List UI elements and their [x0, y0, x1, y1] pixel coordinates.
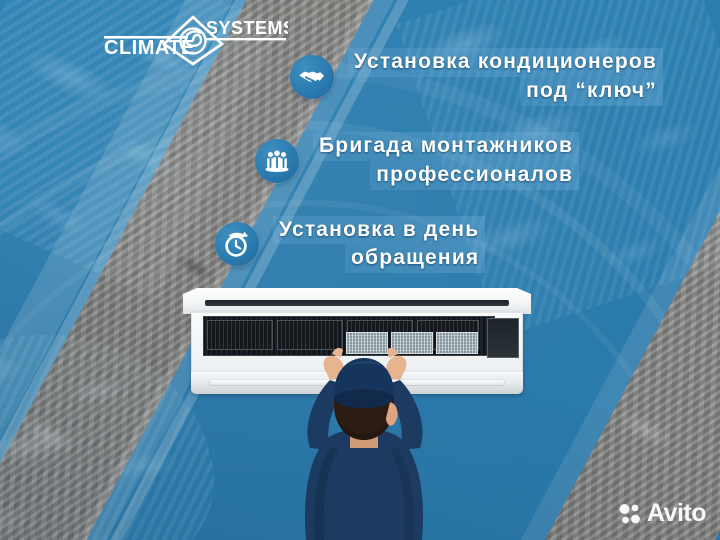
benefit-line: под “ключ”: [520, 77, 663, 106]
benefit-line: Установка в день: [273, 216, 485, 245]
logo-rule-left: [104, 36, 188, 39]
benefit-text: Бригада монтажников профессионалов: [313, 132, 579, 190]
benefit-line: обращения: [345, 244, 485, 273]
logo-word-right: SYSTEMS: [206, 18, 288, 38]
benefit-item: Установка кондиционеров под “ключ”: [290, 48, 720, 106]
benefit-text: Установка в день обращения: [273, 216, 485, 274]
benefits-list: Установка кондиционеров под “ключ”: [0, 48, 720, 299]
ac-top-cover: [183, 288, 531, 314]
avito-wordmark: Avito: [647, 501, 706, 526]
benefit-line: Установка кондиционеров: [348, 48, 663, 77]
benefit-icon-badge: [255, 139, 299, 183]
logo-rule-right: [206, 38, 286, 40]
avito-dots-icon: [618, 502, 642, 526]
benefit-line: профессионалов: [370, 161, 579, 190]
benefit-line: Бригада монтажников: [313, 132, 579, 161]
avito-watermark: Avito: [618, 501, 706, 526]
handshake-icon: [297, 62, 327, 92]
advertisement-banner: CLIMATE SYSTEMS Установка: [0, 0, 720, 540]
technician-figure: [214, 330, 514, 540]
fast-clock-icon: [221, 228, 253, 260]
benefit-item: Установка в день обращения: [215, 216, 720, 274]
benefit-icon-badge: [215, 222, 259, 266]
benefit-text: Установка кондиционеров под “ключ”: [348, 48, 663, 106]
benefit-icon-badge: [290, 55, 334, 99]
group-of-people-icon: [262, 146, 292, 176]
benefit-item: Бригада монтажников профессионалов: [255, 132, 720, 190]
ac-intake-slot: [205, 300, 509, 306]
